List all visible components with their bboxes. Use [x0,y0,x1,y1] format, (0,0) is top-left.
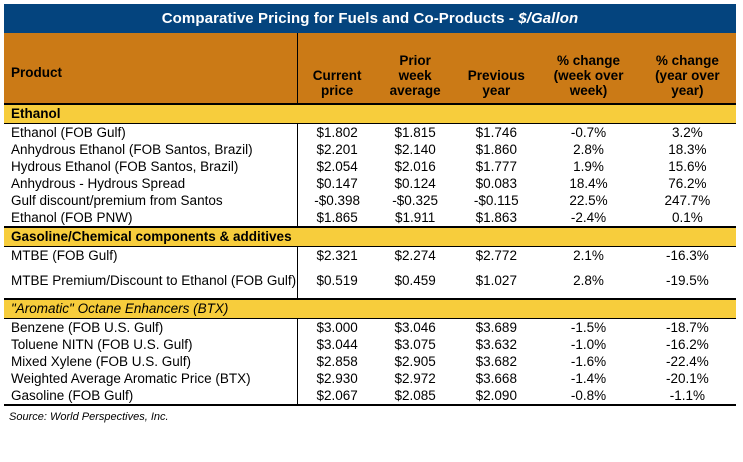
row-pct-change-week: 22.5% [538,192,638,209]
row-prior-week-average: -$0.325 [376,192,454,209]
row-previous-year: $3.689 [454,319,538,337]
row-product-label: Hydrous Ethanol (FOB Santos, Brazil) [4,158,298,175]
row-pct-change-year: 3.2% [639,124,736,142]
row-previous-year: $1.027 [454,264,538,299]
row-product-label: Toluene NITN (FOB U.S. Gulf) [4,336,298,353]
row-prior-week-average: $0.124 [376,175,454,192]
pricing-table-page: Comparative Pricing for Fuels and Co-Pro… [0,0,743,462]
row-previous-year: $3.682 [454,353,538,370]
column-header-prior-week-l3: average [390,83,441,98]
row-current-price: $3.000 [298,319,376,337]
row-current-price: $2.858 [298,353,376,370]
row-current-price: -$0.398 [298,192,376,209]
row-previous-year: $1.777 [454,158,538,175]
table-body: EthanolEthanol (FOB Gulf)$1.802$1.815$1.… [4,104,736,405]
row-pct-change-year: 76.2% [639,175,736,192]
table-row: Hydrous Ethanol (FOB Santos, Brazil)$2.0… [4,158,736,175]
row-pct-change-year: 18.3% [639,141,736,158]
row-prior-week-average: $2.140 [376,141,454,158]
row-pct-change-year: -19.5% [639,264,736,299]
column-header-pct-year-l2: (year over [655,68,720,83]
row-pct-change-year: -16.2% [639,336,736,353]
page-title-main: Comparative Pricing for Fuels and Co-Pro… [162,10,519,27]
row-product-label: Gulf discount/premium from Santos [4,192,298,209]
row-pct-change-week: 18.4% [538,175,638,192]
page-title: Comparative Pricing for Fuels and Co-Pro… [4,4,736,33]
section-header-row: Ethanol [4,104,736,124]
row-current-price: $0.147 [298,175,376,192]
row-product-label: Anhydrous - Hydrous Spread [4,175,298,192]
table-row: Toluene NITN (FOB U.S. Gulf)$3.044$3.075… [4,336,736,353]
column-header-prior-week-average: Priorweekaverage [376,33,454,104]
section-header-label: "Aromatic" Octane Enhancers (BTX) [4,299,736,319]
row-product-label: Mixed Xylene (FOB U.S. Gulf) [4,353,298,370]
column-header-prior-week-l1: Prior [399,53,431,68]
row-prior-week-average: $2.972 [376,370,454,387]
column-header-pct-week-l3: week) [570,83,608,98]
row-prior-week-average: $2.274 [376,247,454,265]
row-pct-change-week: -1.0% [538,336,638,353]
source-note: Source: World Perspectives, Inc. [4,406,736,423]
row-prior-week-average: $2.016 [376,158,454,175]
comparative-pricing-table: Product Currentprice Priorweekaverage Pr… [4,33,736,406]
table-row: Gulf discount/premium from Santos-$0.398… [4,192,736,209]
row-current-price: $2.201 [298,141,376,158]
row-previous-year: $2.772 [454,247,538,265]
table-row: MTBE Premium/Discount to Ethanol (FOB Gu… [4,264,736,299]
table-row: Ethanol (FOB Gulf)$1.802$1.815$1.746-0.7… [4,124,736,142]
row-current-price: $2.930 [298,370,376,387]
row-pct-change-week: -0.7% [538,124,638,142]
row-current-price: $1.802 [298,124,376,142]
row-prior-week-average: $3.075 [376,336,454,353]
row-previous-year: $1.860 [454,141,538,158]
row-pct-change-year: -1.1% [639,387,736,405]
row-prior-week-average: $0.459 [376,264,454,299]
row-product-label: Gasoline (FOB Gulf) [4,387,298,405]
row-current-price: $0.519 [298,264,376,299]
row-pct-change-week: 2.8% [538,264,638,299]
row-pct-change-year: -16.3% [639,247,736,265]
row-pct-change-week: -0.8% [538,387,638,405]
section-header-row: "Aromatic" Octane Enhancers (BTX) [4,299,736,319]
row-product-label: MTBE (FOB Gulf) [4,247,298,265]
table-header-row: Product Currentprice Priorweekaverage Pr… [4,33,736,104]
section-header-label: Gasoline/Chemical components & additives [4,227,736,247]
table-row: MTBE (FOB Gulf)$2.321$2.274$2.7722.1%-16… [4,247,736,265]
row-pct-change-year: -22.4% [639,353,736,370]
column-header-pct-week-l1: % change [557,53,620,68]
table-row: Benzene (FOB U.S. Gulf)$3.000$3.046$3.68… [4,319,736,337]
column-header-prior-week-l2: week [399,68,432,83]
column-header-pct-change-year: % change(year overyear) [639,33,736,104]
section-header-row: Gasoline/Chemical components & additives [4,227,736,247]
row-previous-year: $3.668 [454,370,538,387]
row-product-label: Ethanol (FOB Gulf) [4,124,298,142]
column-header-pct-week-l2: (week over [554,68,624,83]
row-current-price: $2.321 [298,247,376,265]
table-row: Weighted Average Aromatic Price (BTX)$2.… [4,370,736,387]
row-current-price: $2.067 [298,387,376,405]
row-prior-week-average: $1.815 [376,124,454,142]
page-title-unit: $/Gallon [518,10,578,27]
table-row: Mixed Xylene (FOB U.S. Gulf)$2.858$2.905… [4,353,736,370]
column-header-pct-year-l1: % change [656,53,719,68]
row-pct-change-week: -1.6% [538,353,638,370]
row-previous-year: $2.090 [454,387,538,405]
row-prior-week-average: $2.905 [376,353,454,370]
row-prior-week-average: $1.911 [376,209,454,227]
column-header-current-price-l1: Current [313,68,362,83]
row-product-label: Benzene (FOB U.S. Gulf) [4,319,298,337]
row-previous-year: -$0.115 [454,192,538,209]
row-product-label: MTBE Premium/Discount to Ethanol (FOB Gu… [4,264,298,299]
row-pct-change-week: 2.1% [538,247,638,265]
row-previous-year: $0.083 [454,175,538,192]
row-pct-change-year: -20.1% [639,370,736,387]
row-pct-change-week: -1.5% [538,319,638,337]
row-pct-change-year: 0.1% [639,209,736,227]
row-current-price: $2.054 [298,158,376,175]
column-header-pct-year-l3: year) [671,83,703,98]
row-product-label: Ethanol (FOB PNW) [4,209,298,227]
column-header-current-price-l2: price [321,83,353,98]
row-product-label: Weighted Average Aromatic Price (BTX) [4,370,298,387]
row-product-label: Anhydrous Ethanol (FOB Santos, Brazil) [4,141,298,158]
table-row: Anhydrous - Hydrous Spread$0.147$0.124$0… [4,175,736,192]
row-previous-year: $1.746 [454,124,538,142]
row-pct-change-week: -2.4% [538,209,638,227]
row-current-price: $1.865 [298,209,376,227]
row-pct-change-year: 247.7% [639,192,736,209]
row-prior-week-average: $3.046 [376,319,454,337]
column-header-previous-year: Previousyear [454,33,538,104]
row-previous-year: $3.632 [454,336,538,353]
column-header-previous-year-l2: year [482,83,510,98]
column-header-pct-change-week: % change(week overweek) [538,33,638,104]
table-row: Gasoline (FOB Gulf)$2.067$2.085$2.090-0.… [4,387,736,405]
section-header-label: Ethanol [4,104,736,124]
row-pct-change-week: 2.8% [538,141,638,158]
column-header-product: Product [4,33,298,104]
column-header-previous-year-l1: Previous [468,68,525,83]
row-pct-change-year: 15.6% [639,158,736,175]
table-row: Ethanol (FOB PNW)$1.865$1.911$1.863-2.4%… [4,209,736,227]
table-row: Anhydrous Ethanol (FOB Santos, Brazil)$2… [4,141,736,158]
row-pct-change-year: -18.7% [639,319,736,337]
row-pct-change-week: 1.9% [538,158,638,175]
table-header: Product Currentprice Priorweekaverage Pr… [4,33,736,104]
column-header-current-price: Currentprice [298,33,376,104]
row-previous-year: $1.863 [454,209,538,227]
row-current-price: $3.044 [298,336,376,353]
row-pct-change-week: -1.4% [538,370,638,387]
row-prior-week-average: $2.085 [376,387,454,405]
